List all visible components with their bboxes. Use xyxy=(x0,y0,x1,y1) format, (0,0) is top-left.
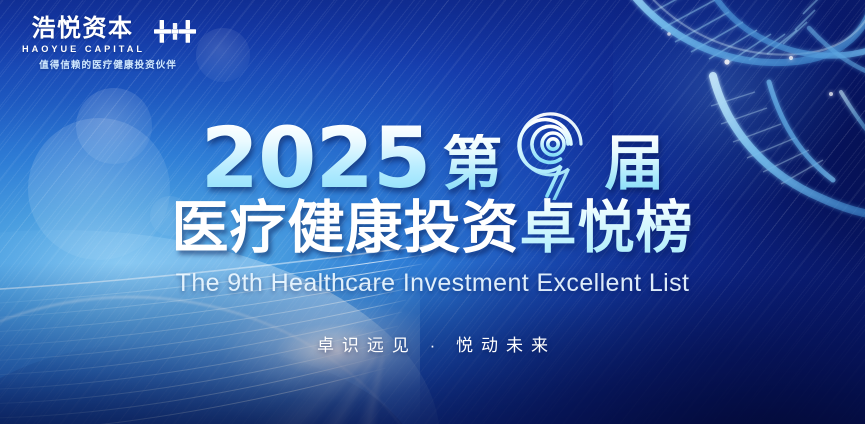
ordinal-suffix-text: 届 xyxy=(604,134,664,194)
slogan-text: 卓识远见 · 悦动未来 xyxy=(0,331,865,356)
title-block: 2025 第 xyxy=(0,0,865,424)
year-line: 2025 第 xyxy=(0,96,865,196)
event-banner: 浩悦资本 HAOYUE CAPITAL xyxy=(0,0,865,424)
year-text: 2025 xyxy=(201,122,435,196)
spiral-nine-icon xyxy=(511,102,595,200)
main-title-white: 医疗健康投资 xyxy=(172,196,520,260)
main-title-cyan: 卓悦榜 xyxy=(520,196,694,260)
main-title: 医疗健康投资卓悦榜 xyxy=(0,198,865,258)
english-subtitle: The 9th Healthcare Investment Excellent … xyxy=(0,270,865,298)
ordinal-prefix-text: 第 xyxy=(442,134,502,194)
